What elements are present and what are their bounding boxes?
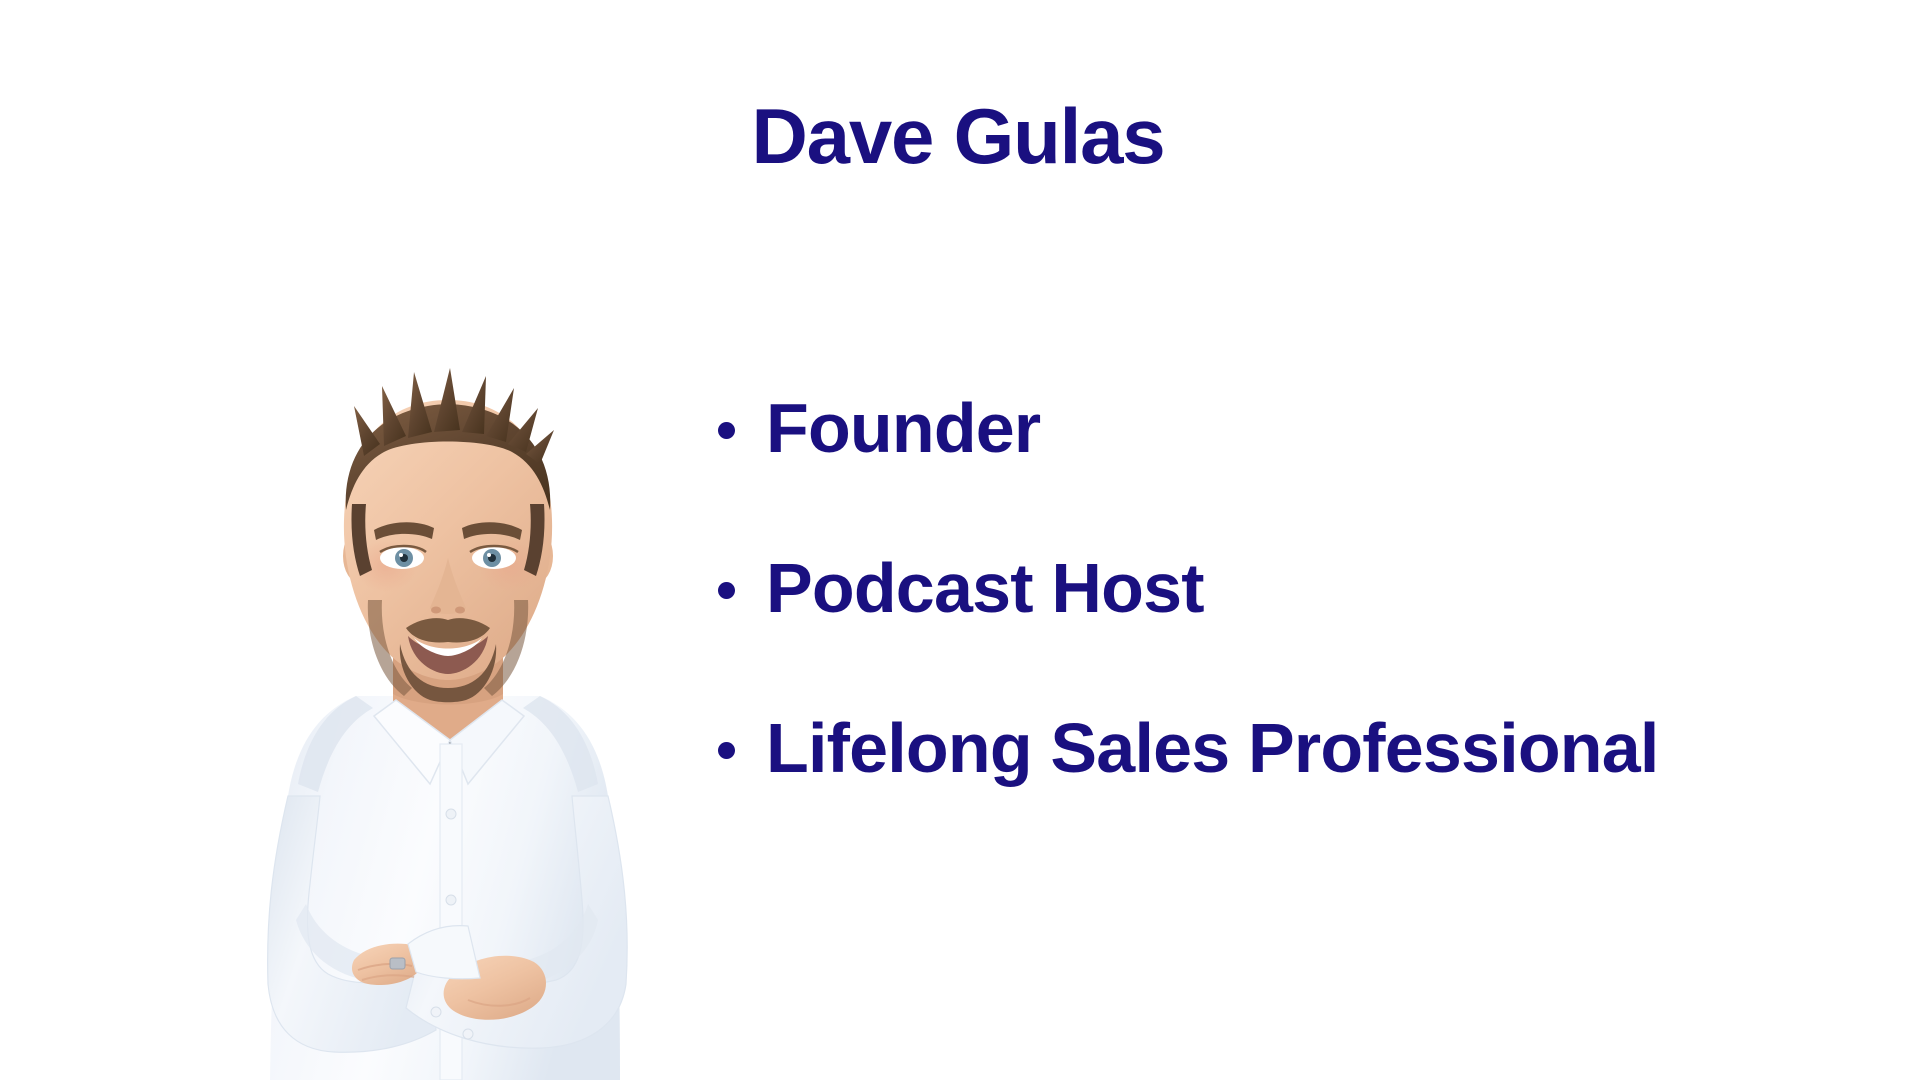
bullet-dot-icon — [718, 422, 735, 439]
portrait-photo — [168, 344, 724, 1080]
bullet-label: Podcast Host — [766, 553, 1204, 623]
head — [343, 368, 554, 702]
bullet-dot-icon — [718, 582, 735, 599]
list-item: Founder — [718, 385, 1918, 471]
bullet-dot-icon — [718, 742, 735, 759]
list-item: Lifelong Sales Professional — [718, 705, 1918, 791]
ring — [390, 958, 405, 969]
bullet-label: Lifelong Sales Professional — [766, 713, 1659, 783]
list-item: Podcast Host — [718, 545, 1918, 631]
bullet-label: Founder — [766, 393, 1040, 463]
page-title: Dave Gulas — [0, 96, 1918, 178]
bullet-list: Founder Podcast Host Lifelong Sales Prof… — [718, 385, 1918, 791]
presentation-slide: Dave Gulas — [0, 0, 1920, 1080]
